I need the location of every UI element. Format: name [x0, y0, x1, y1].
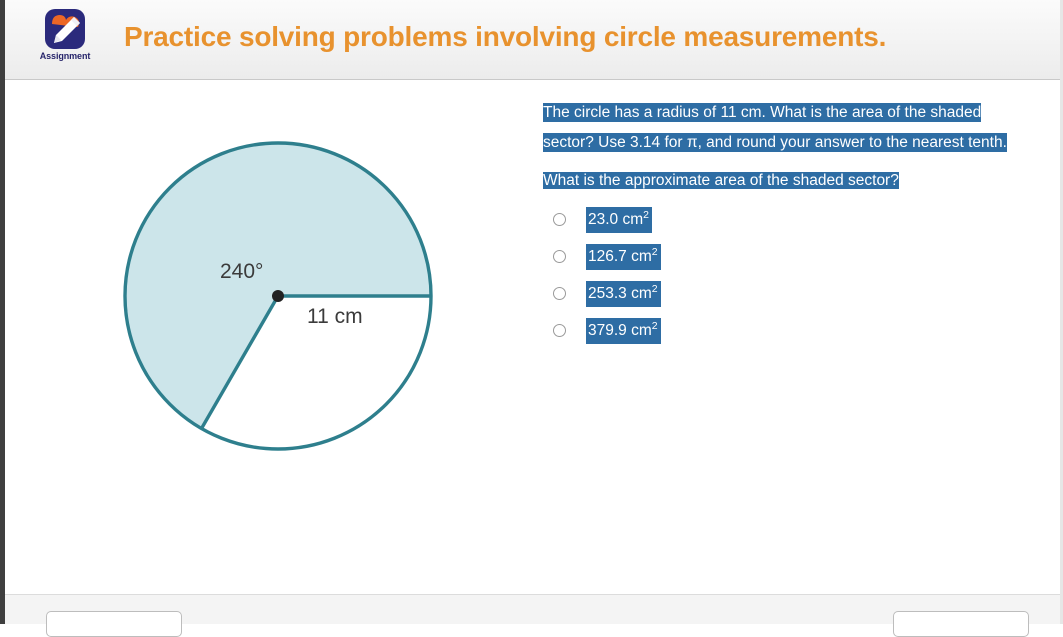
- center-point: [272, 290, 284, 302]
- answer-choice-3[interactable]: 253.3 cm2: [543, 275, 1043, 312]
- page-footer: [5, 594, 1060, 624]
- radio-button-4[interactable]: [553, 324, 566, 337]
- angle-label: 240°: [220, 260, 263, 283]
- assignment-badge[interactable]: Assignment: [36, 8, 94, 70]
- next-button[interactable]: [893, 611, 1029, 637]
- question-stem-text: The circle has a radius of 11 cm. What i…: [543, 103, 1007, 152]
- assignment-pencil-icon: [44, 8, 86, 50]
- question-prompt: What is the approximate area of the shad…: [543, 166, 1043, 196]
- previous-button[interactable]: [46, 611, 182, 637]
- answer-choice-1-label: 23.0 cm2: [586, 207, 652, 233]
- answer-choice-4-label: 379.9 cm2: [586, 318, 661, 344]
- radio-button-2[interactable]: [553, 250, 566, 263]
- answer-choice-2[interactable]: 126.7 cm2: [543, 238, 1043, 275]
- question-stem: The circle has a radius of 11 cm. What i…: [543, 98, 1013, 158]
- assignment-page: Assignment Practice solving problems inv…: [0, 0, 1063, 624]
- answer-choice-1[interactable]: 23.0 cm2: [543, 201, 1043, 238]
- answer-choice-4[interactable]: 379.9 cm2: [543, 312, 1043, 349]
- radio-button-1[interactable]: [553, 213, 566, 226]
- question-panel: The circle has a radius of 11 cm. What i…: [543, 98, 1043, 365]
- radius-label: 11 cm: [307, 305, 363, 328]
- answer-choice-list: 23.0 cm2 126.7 cm2 253.3 cm2 379.9 cm2: [543, 201, 1043, 349]
- circle-sector-diagram: 240° 11 cm: [115, 126, 455, 456]
- question-prompt-text: What is the approximate area of the shad…: [543, 172, 899, 189]
- answer-choice-2-label: 126.7 cm2: [586, 244, 661, 270]
- left-edge-rail: [0, 0, 5, 624]
- assignment-badge-label: Assignment: [36, 51, 94, 61]
- page-header: Assignment Practice solving problems inv…: [0, 0, 1063, 80]
- page-title: Practice solving problems involving circ…: [124, 21, 886, 53]
- assignment-content: 240° 11 cm The circle has a radius of 11…: [5, 81, 1060, 593]
- answer-choice-3-label: 253.3 cm2: [586, 281, 661, 307]
- radio-button-3[interactable]: [553, 287, 566, 300]
